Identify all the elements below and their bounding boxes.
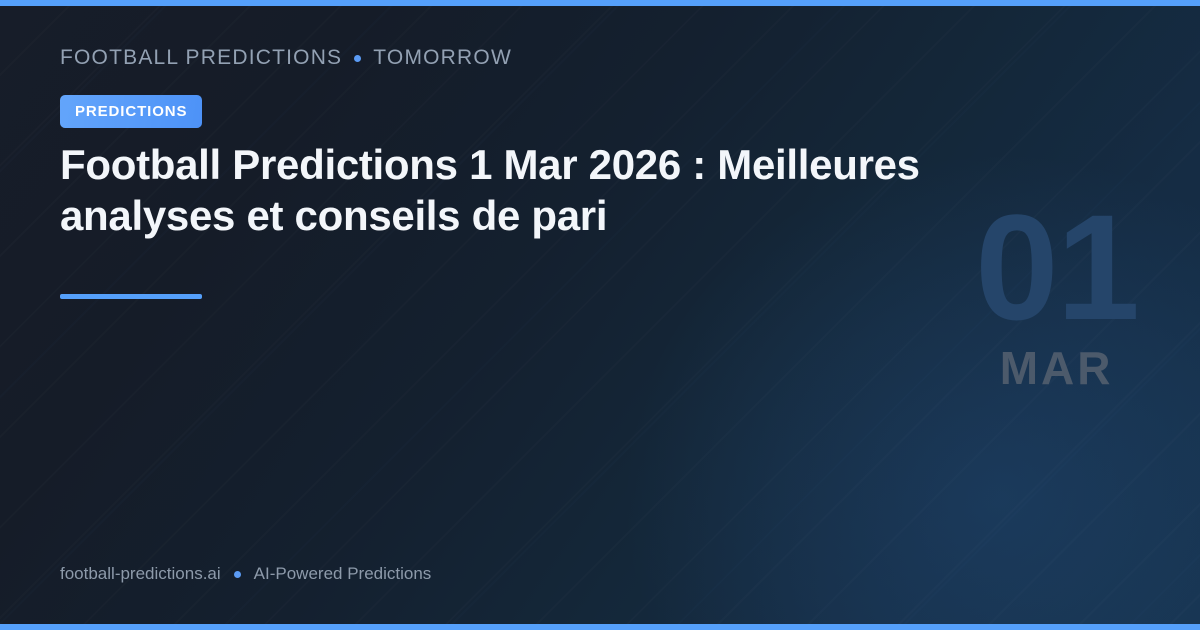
page-title: Football Predictions 1 Mar 2026 : Meille… [60,140,1070,242]
eyebrow-timeframe: TOMORROW [373,46,512,70]
title-underline-rule [60,294,202,299]
bullet-dot-icon [354,55,361,62]
footer-site-name[interactable]: football-predictions.ai [60,564,221,584]
card-content: FOOTBALL PREDICTIONS TOMORROW PREDICTION… [0,0,1200,630]
footer: football-predictions.ai AI-Powered Predi… [60,564,431,584]
footer-tagline: AI-Powered Predictions [254,564,432,584]
og-share-card: 01 MAR FOOTBALL PREDICTIONS TOMORROW PRE… [0,0,1200,630]
eyebrow-category: FOOTBALL PREDICTIONS [60,46,342,70]
eyebrow: FOOTBALL PREDICTIONS TOMORROW [60,46,512,70]
status-badge[interactable]: PREDICTIONS [60,95,202,128]
bullet-dot-icon [234,571,241,578]
